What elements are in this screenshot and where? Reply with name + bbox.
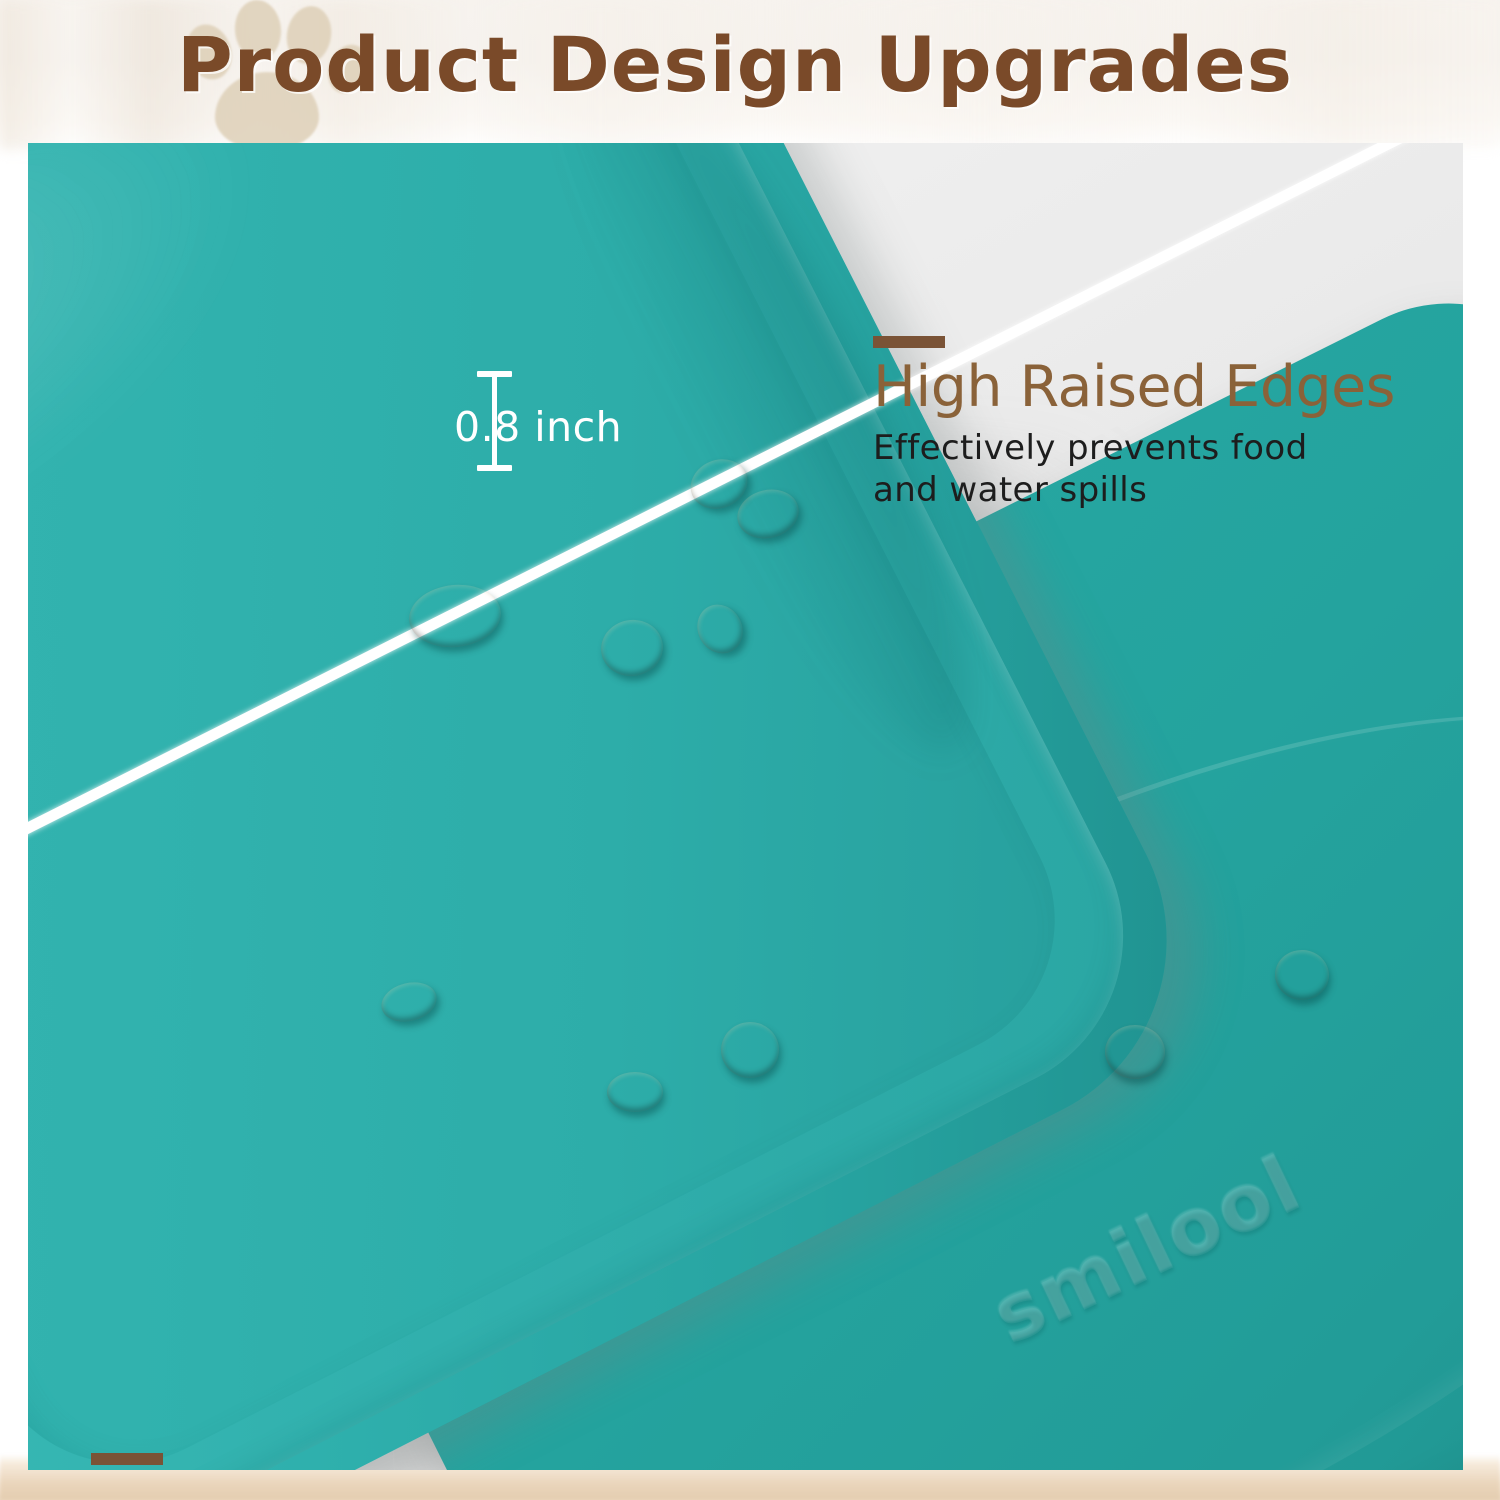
accent-bar-icon: [91, 1453, 163, 1465]
product-infographic: Product Design Upgrades smilool: [0, 0, 1500, 1500]
feature-heading: High Raised Edges: [873, 358, 1463, 416]
photo-panel: smilool 0.8 inch High Raised Edges: [28, 143, 1463, 1470]
feature-subtext-line-2: and water spills: [873, 470, 1463, 511]
callout-cap-bottom: [477, 465, 512, 471]
feature-subtext-line-1: Effectively prevents food: [873, 428, 1463, 469]
callout-label: 0.8 inch: [454, 403, 664, 451]
page-title: Product Design Upgrades: [0, 20, 1470, 109]
kibble-piece: [607, 1072, 663, 1112]
dimension-callout: 0.8 inch: [446, 365, 676, 485]
feature-subtext: Effectively prevents food and water spil…: [873, 428, 1463, 511]
feature-high-raised-edges: High Raised Edges Effectively prevents f…: [873, 336, 1463, 511]
accent-bar-icon: [873, 336, 945, 348]
feature-keeping-floor-clean: Keeping the floor clean Minimizes time s…: [91, 1453, 1271, 1470]
